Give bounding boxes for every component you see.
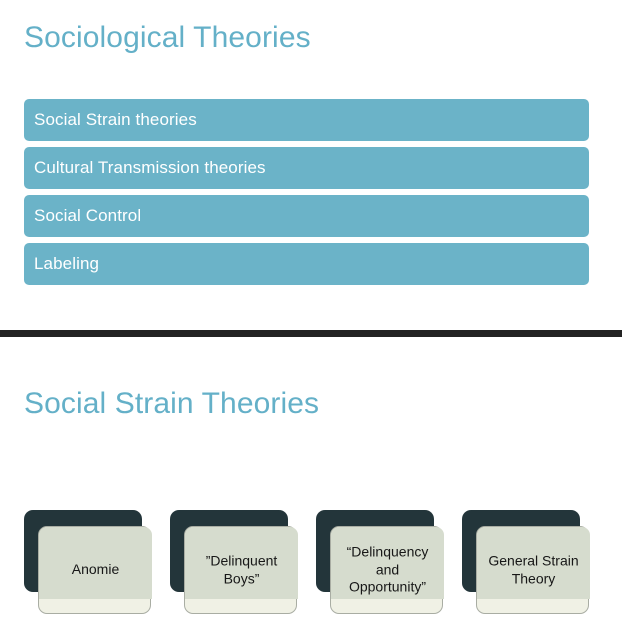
page-title: Social Strain Theories (24, 387, 319, 420)
bar-item-social-control[interactable]: Social Control (24, 195, 589, 237)
card-face: Anomie (38, 526, 151, 614)
slide-divider (0, 330, 622, 337)
slide-social-strain-theories: Social Strain Theories Anomie ”Delinquen… (0, 337, 622, 638)
slide-sociological-theories: Sociological Theories Social Strain theo… (0, 0, 622, 330)
card-label: Anomie (41, 561, 150, 579)
bar-item-label: Social Control (34, 206, 141, 226)
card-face: General Strain Theory (476, 526, 589, 614)
page-title: Sociological Theories (24, 21, 311, 54)
card-label: ”Delinquent Boys” (187, 552, 296, 587)
theory-bar-list: Social Strain theories Cultural Transmis… (24, 99, 589, 291)
card-label: “Delinquency and Opportunity” (333, 544, 442, 597)
bar-item-cultural-transmission[interactable]: Cultural Transmission theories (24, 147, 589, 189)
bar-item-social-strain[interactable]: Social Strain theories (24, 99, 589, 141)
theory-card-row: Anomie ”Delinquent Boys” “Delinquency an… (0, 510, 622, 620)
card-face: “Delinquency and Opportunity” (330, 526, 443, 614)
theory-card-anomie[interactable]: Anomie (24, 510, 151, 614)
card-label: General Strain Theory (479, 552, 588, 587)
bar-item-label: Social Strain theories (34, 110, 197, 130)
theory-card-delinquent-boys[interactable]: ”Delinquent Boys” (170, 510, 297, 614)
bar-item-label: Cultural Transmission theories (34, 158, 266, 178)
theory-card-general-strain-theory[interactable]: General Strain Theory (462, 510, 589, 614)
bar-item-labeling[interactable]: Labeling (24, 243, 589, 285)
card-face: ”Delinquent Boys” (184, 526, 297, 614)
bar-item-label: Labeling (34, 254, 99, 274)
theory-card-delinquency-and-opportunity[interactable]: “Delinquency and Opportunity” (316, 510, 443, 614)
